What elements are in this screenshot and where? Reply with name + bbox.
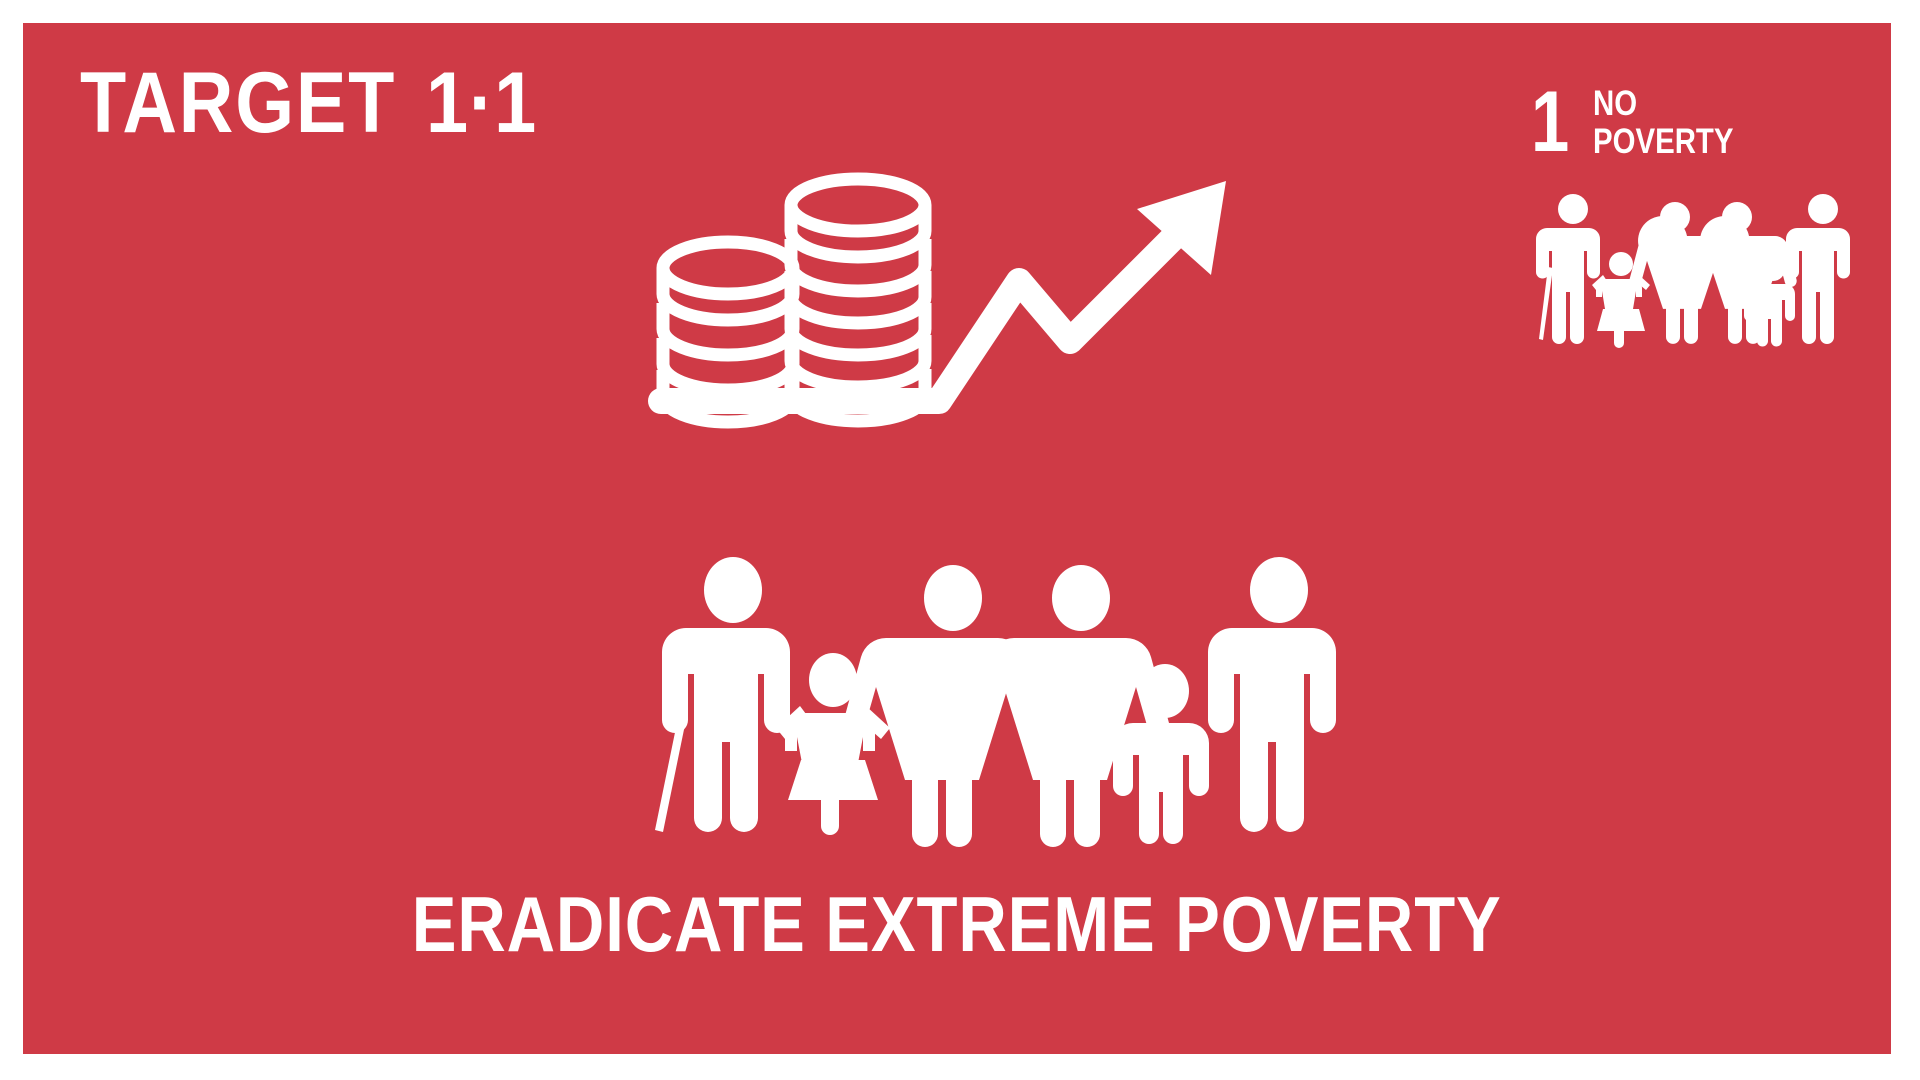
sdg-goal-name-line2: POVERTY <box>1593 123 1734 161</box>
sdg-goal-number: 1 <box>1531 79 1569 165</box>
coins-and-growth-illustration <box>623 163 1363 453</box>
target-subnumber: 1 <box>494 55 536 151</box>
caption: ERADICATE EXTREME POVERTY <box>23 885 1891 963</box>
figure-man <box>1208 557 1336 832</box>
coin-stack-right-icon <box>791 179 925 421</box>
figure-man-with-cane <box>655 557 790 832</box>
target-number: 1 <box>426 55 469 151</box>
figure-man-with-cane <box>1536 194 1600 344</box>
sdg-no-poverty-family-icon <box>1535 191 1851 341</box>
page-title: TARGET1·1 <box>80 60 536 146</box>
caption-text: ERADICATE EXTREME POVERTY <box>412 885 1502 963</box>
sdg-target-card: TARGET1·1 1 NO POVERTY <box>23 23 1891 1054</box>
family-group-icon <box>653 558 1343 843</box>
sdg-goal-name: NO POVERTY <box>1593 85 1734 161</box>
target-separator: · <box>469 55 494 151</box>
sdg-goal-name-line1: NO <box>1593 85 1734 123</box>
sdg-goal-badge: 1 NO POVERTY <box>1531 71 1851 361</box>
figure-man <box>1786 194 1850 344</box>
target-word: TARGET <box>80 55 396 151</box>
